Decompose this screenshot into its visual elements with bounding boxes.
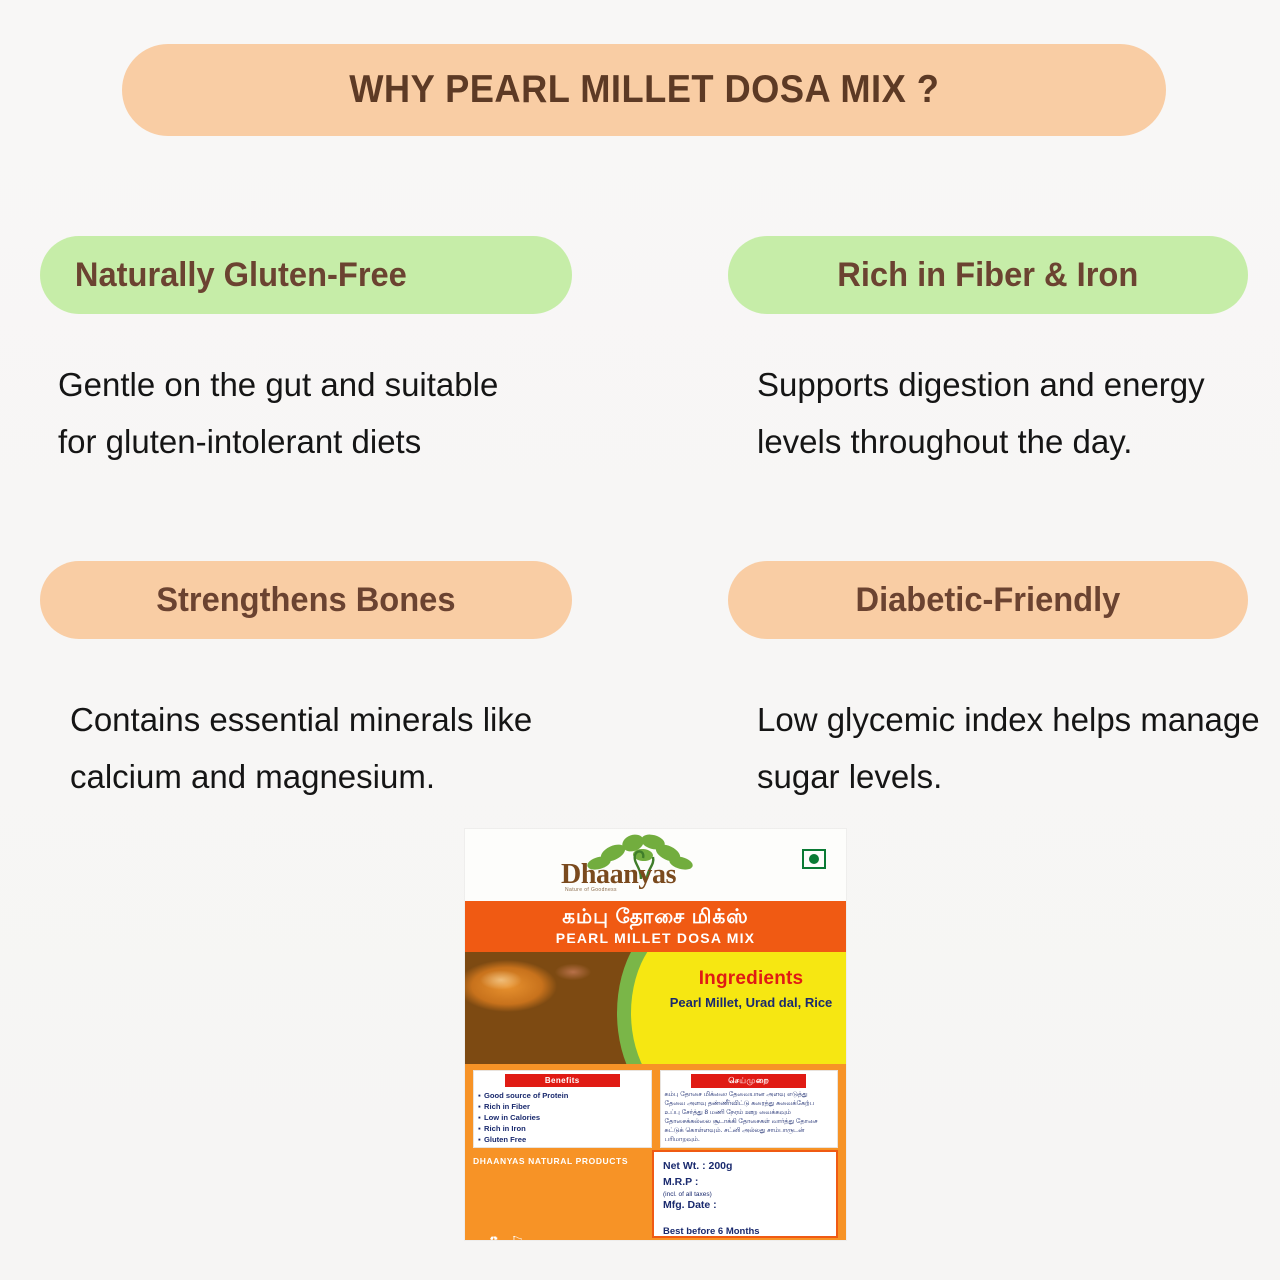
veg-dot <box>809 854 819 864</box>
package-title-band: கம்பு தோசை மிக்ஸ் PEARL MILLET DOSA MIX <box>465 901 846 952</box>
benefit-badge-diabetic-friendly: Diabetic-Friendly <box>728 561 1248 639</box>
benefit-badge-label: Rich in Fiber & Iron <box>837 256 1138 295</box>
method-line: உப்பு சேர்த்து 8 மணி நேரம் ஊற வைக்கவும் <box>665 1109 834 1118</box>
package-title-english: PEARL MILLET DOSA MIX <box>465 930 846 946</box>
brand-tagline: Nature of Goodness <box>565 887 617 893</box>
eco-icon-group: ♻ ⚐ <box>487 1235 524 1240</box>
benefit-description-fiber-iron: Supports digestion and energy levels thr… <box>757 357 1257 471</box>
ingredients-items: Pearl Millet, Urad dal, Rice <box>662 994 840 1012</box>
mrp-details-box: Net Wt. : 200g M.R.P : (incl. of all tax… <box>652 1150 838 1238</box>
page-title: WHY PEARL MILLET DOSA MIX ? <box>349 68 939 112</box>
benefits-box: Benefits Good source of Protein Rich in … <box>473 1070 652 1148</box>
benefit-badge-strengthens-bones: Strengthens Bones <box>40 561 572 639</box>
method-box-text: கம்பு தோசை மிக்ஸை தேவையான அளவு எடுத்து த… <box>665 1091 834 1145</box>
package-footer: DHAANYAS NATURAL PRODUCTS Net Wt. : 200g… <box>465 1154 846 1240</box>
method-box-heading: செய்முறை <box>691 1074 806 1088</box>
infographic-page: WHY PEARL MILLET DOSA MIX ? Naturally Gl… <box>0 0 1280 1280</box>
mrp-label: M.R.P : <box>663 1175 827 1191</box>
method-line: பரிமாறவும். <box>665 1136 834 1145</box>
best-before-label: Best before 6 Months <box>663 1226 827 1237</box>
package-mid-section: Ingredients Pearl Millet, Urad dal, Rice <box>465 952 846 1064</box>
benefit-description-gluten-free: Gentle on the gut and suitable for glute… <box>58 357 528 471</box>
benefit-badge-label: Strengthens Bones <box>156 581 455 620</box>
package-title-tamil: கம்பு தோசை மிக்ஸ் <box>465 906 846 929</box>
product-package-image: Dhaanyas Nature of Goodness கம்பு தோசை ம… <box>465 829 846 1240</box>
ingredients-block: Ingredients Pearl Millet, Urad dal, Rice <box>662 968 840 1012</box>
package-brand-strip: Dhaanyas Nature of Goodness <box>465 829 846 901</box>
benefits-list-item: Rich in Iron <box>478 1123 647 1134</box>
net-weight: Net Wt. : 200g <box>663 1159 827 1175</box>
mrp-tax-note: (incl. of all taxes) <box>663 1191 827 1199</box>
dustbin-icon: ⚐ <box>510 1235 523 1240</box>
method-line: தோசைக்கல்லை சூடாக்கி தோசைகள் வார்த்து தோ… <box>665 1118 834 1127</box>
method-line: கம்பு தோசை மிக்ஸை தேவையான அளவு எடுத்து <box>665 1091 834 1100</box>
benefit-badge-label: Diabetic-Friendly <box>856 581 1121 620</box>
benefits-list-item: Gluten Free <box>478 1134 647 1145</box>
method-line: சுட்டுக் கொள்ளவும். சட்னி அல்லது சாம்பார… <box>665 1127 834 1136</box>
method-line: தேவை அளவு தண்ணீர்விட்டு கரைத்து சுவைக்கே… <box>665 1100 834 1109</box>
benefit-badge-gluten-free: Naturally Gluten-Free <box>40 236 572 314</box>
benefit-badge-label: Naturally Gluten-Free <box>75 256 407 295</box>
mfg-date-label: Mfg. Date : <box>663 1198 827 1214</box>
benefits-list-item: Good source of Protein <box>478 1090 647 1101</box>
benefits-box-list: Good source of Protein Rich in Fiber Low… <box>478 1090 647 1145</box>
recycle-icon: ♻ <box>487 1235 500 1240</box>
ingredients-heading: Ingredients <box>662 968 840 990</box>
veg-mark-icon <box>802 849 826 869</box>
method-box: செய்முறை கம்பு தோசை மிக்ஸை தேவையான அளவு … <box>660 1070 839 1148</box>
benefits-box-heading: Benefits <box>505 1074 620 1087</box>
benefit-description-strengthens-bones: Contains essential minerals like calcium… <box>70 692 590 806</box>
benefits-list-item: Low in Calories <box>478 1112 647 1123</box>
benefit-badge-fiber-iron: Rich in Fiber & Iron <box>728 236 1248 314</box>
package-info-boxes: Benefits Good source of Protein Rich in … <box>465 1064 846 1154</box>
benefit-description-diabetic-friendly: Low glycemic index helps manage sugar le… <box>757 692 1267 806</box>
benefits-list-item: Rich in Fiber <box>478 1101 647 1112</box>
header-banner: WHY PEARL MILLET DOSA MIX ? <box>122 44 1166 136</box>
